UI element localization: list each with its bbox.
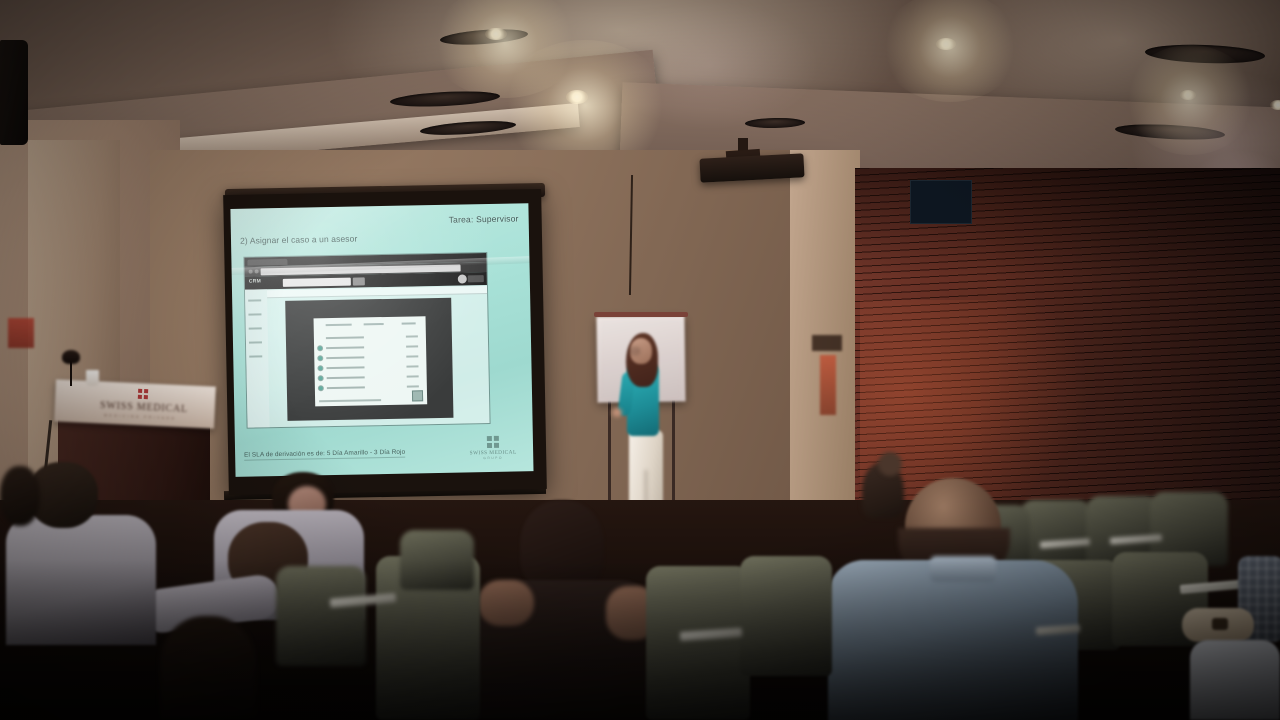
attendee-shoulder-skin [478, 580, 534, 626]
radio-button[interactable] [318, 346, 322, 350]
app-search-button [353, 277, 365, 285]
modal-row [319, 372, 423, 382]
projection-screen: Tarea: Supervisor 2) Asignar el caso a u… [223, 189, 547, 495]
app-search-input [283, 277, 351, 286]
slide-footer-note: El SLA de derivación es de: 5 Día Amaril… [244, 449, 405, 461]
browser-back-icon [249, 269, 253, 273]
sidebar-item [249, 341, 262, 343]
row-value [406, 335, 418, 338]
row-label [326, 346, 364, 349]
slide-title: 2) Asignar el caso a un asesor [240, 234, 358, 246]
row-value [406, 345, 418, 348]
modal-overlay [285, 298, 453, 421]
app-brand-label: CRM [249, 278, 261, 284]
presenter-hand [612, 408, 622, 417]
flipchart-clamp [594, 312, 688, 317]
ceiling-light [1270, 100, 1280, 110]
modal-col-header [326, 324, 352, 326]
modal-col-header [402, 322, 416, 324]
radio-button[interactable] [319, 386, 323, 390]
podium-logo-dots-icon [138, 389, 148, 399]
modal-row [319, 382, 423, 392]
radio-button[interactable] [318, 356, 322, 360]
attendee-foreground-torso [828, 560, 1078, 720]
presentation-slide: Tarea: Supervisor 2) Asignar el caso a u… [230, 203, 533, 477]
row-label [326, 336, 364, 339]
modal-header [320, 322, 420, 329]
seat [276, 566, 366, 666]
row-value [407, 385, 419, 388]
ceiling-light [485, 28, 507, 40]
browser-forward-icon [255, 269, 259, 273]
presenter-glasses-icon [630, 348, 639, 354]
modal-row [318, 362, 422, 372]
sidebar-item [248, 313, 261, 315]
wristwatch [1212, 618, 1228, 630]
modal-confirm-button[interactable] [412, 390, 423, 401]
row-label [327, 386, 365, 389]
row-value [407, 375, 419, 378]
radio-button[interactable] [319, 376, 323, 380]
radio-button[interactable] [318, 366, 322, 370]
attendee-collar [930, 556, 996, 582]
modal-row [318, 352, 422, 362]
sidebar-item [249, 327, 262, 329]
ceiling-light [566, 90, 588, 104]
wall-speaker-icon [0, 40, 28, 145]
extinguisher-sign-icon [812, 335, 842, 351]
flipchart-leg [672, 400, 675, 508]
attendee-head [0, 466, 40, 526]
paper-cup [86, 370, 99, 386]
app-sidebar [245, 289, 270, 427]
fire-extinguisher-icon [820, 355, 836, 415]
ceiling-light [1180, 90, 1196, 100]
slide-task-label: Tarea: Supervisor [449, 213, 519, 224]
assign-advisor-modal [314, 316, 428, 406]
row-label [326, 356, 364, 359]
row-value [406, 365, 418, 368]
modal-row [318, 342, 422, 352]
row-label [327, 376, 365, 379]
wall-monitor [910, 180, 972, 224]
slide-swiss-medical-logo: SWISS MEDICAL GRUPO [467, 435, 519, 460]
modal-col-header [364, 323, 384, 325]
row-value [406, 355, 418, 358]
conference-room-photo: Tarea: Supervisor 2) Asignar el caso a u… [0, 0, 1280, 720]
account-menu [468, 275, 484, 282]
attendee-head [878, 452, 902, 476]
seat [646, 566, 750, 720]
modal-row [318, 332, 422, 342]
ceiling-light [936, 38, 956, 50]
modal-footer-text [319, 399, 381, 403]
attendee-torso [6, 515, 156, 645]
sidebar-item [248, 299, 261, 301]
avatar [458, 274, 467, 283]
slide-screenshot: CRM [243, 252, 490, 429]
row-label [326, 366, 364, 369]
logo-dots-icon [467, 435, 519, 448]
microphone-icon [62, 350, 80, 364]
fire-exit-sign-icon [8, 318, 34, 348]
seat [740, 556, 832, 676]
flipchart-leg [608, 400, 611, 510]
attendee-white-shirt [1190, 640, 1280, 720]
browser-tab [247, 258, 287, 265]
sidebar-item [249, 355, 262, 357]
attendee-head [160, 616, 256, 720]
seat [400, 530, 474, 590]
